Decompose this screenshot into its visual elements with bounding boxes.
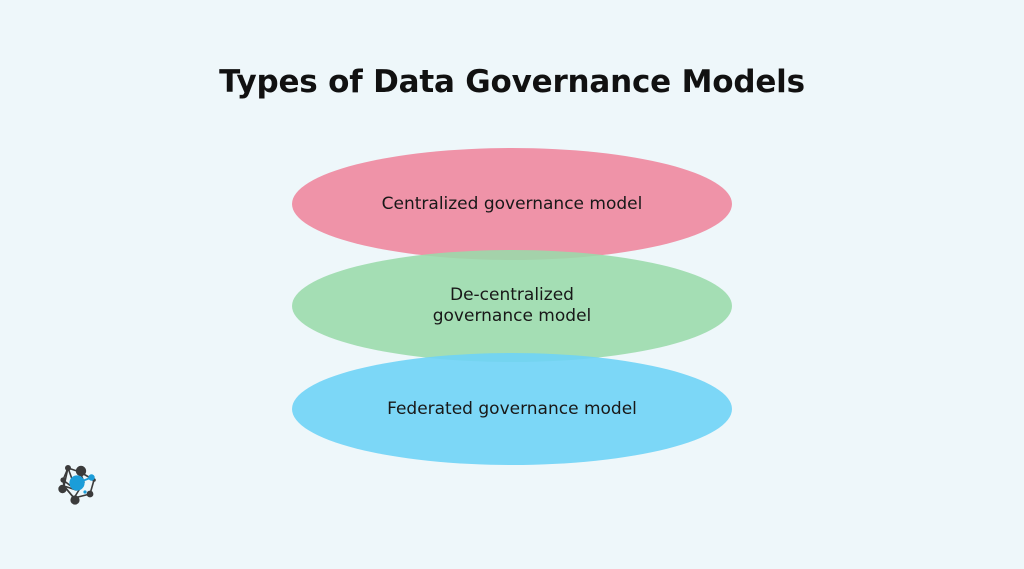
governance-models-diagram: Centralized governance model De-centrali… [292, 148, 732, 468]
ellipse-label-centralized: Centralized governance model [354, 194, 671, 215]
page-title: Types of Data Governance Models [0, 64, 1024, 100]
ellipse-federated-governance[interactable]: Federated governance model [292, 353, 732, 465]
network-nodes-logo [50, 456, 106, 512]
ellipse-label-decentralized: De-centralized governance model [405, 285, 620, 326]
ellipse-decentralized-governance[interactable]: De-centralized governance model [292, 250, 732, 362]
slide-canvas: Types of Data Governance Models Centrali… [0, 0, 1024, 569]
ellipse-label-federated: Federated governance model [359, 399, 665, 420]
ellipse-centralized-governance[interactable]: Centralized governance model [292, 148, 732, 260]
